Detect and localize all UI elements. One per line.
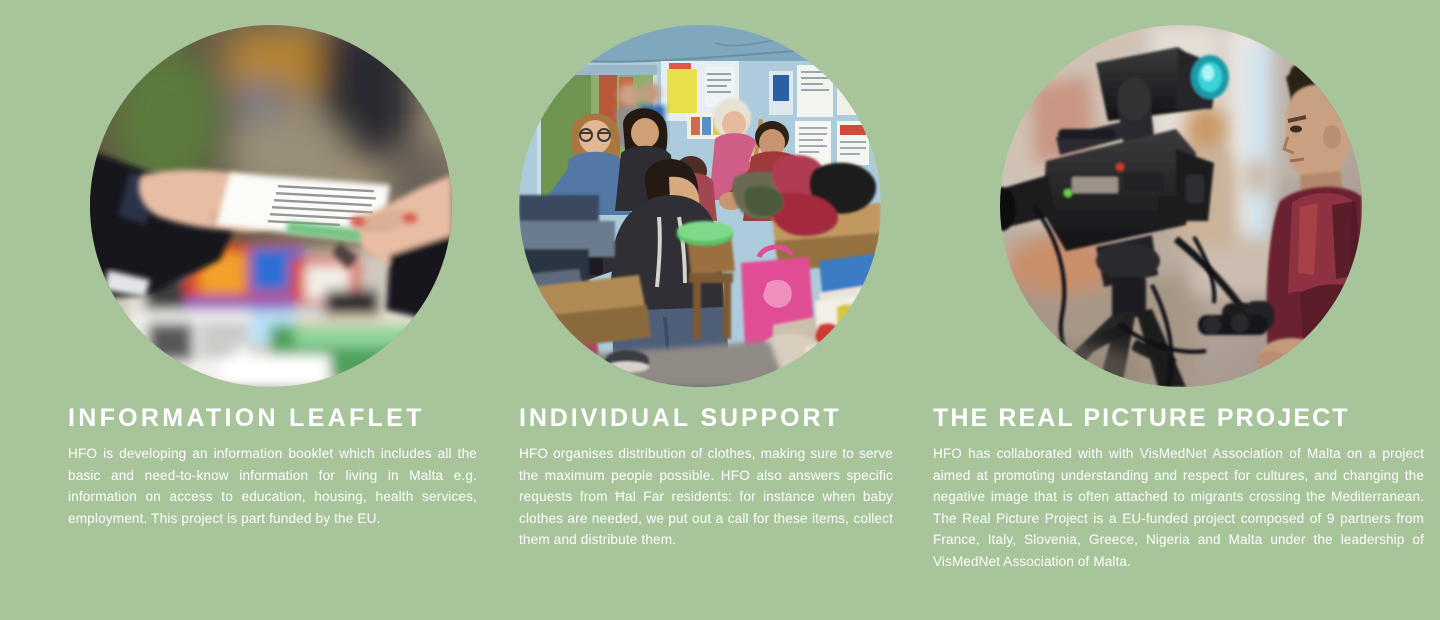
real-picture-project-photo (1000, 25, 1362, 387)
individual-support-photo (519, 25, 881, 387)
individual-support-photo-graphic (519, 25, 881, 387)
information-leaflet-photo-graphic (90, 25, 452, 387)
column-information-leaflet: INFORMATION LEAFLET HFO is developing an… (68, 403, 477, 529)
column-individual-support: INDIVIDUAL SUPPORT HFO organises distrib… (519, 403, 893, 551)
real-picture-project-photo-graphic (1000, 25, 1362, 387)
column-body-real-picture-project: HFO has collaborated with with VisMedNet… (933, 443, 1424, 572)
column-body-information-leaflet: HFO is developing an information booklet… (68, 443, 477, 529)
column-body-individual-support: HFO organises distribution of clothes, m… (519, 443, 893, 551)
text-columns: INFORMATION LEAFLET HFO is developing an… (0, 403, 1440, 620)
column-heading-information-leaflet: INFORMATION LEAFLET (68, 403, 477, 433)
column-heading-real-picture-project: THE REAL PICTURE PROJECT (933, 403, 1424, 433)
photo-row (0, 25, 1440, 387)
information-leaflet-photo (90, 25, 452, 387)
column-heading-individual-support: INDIVIDUAL SUPPORT (519, 403, 893, 433)
page-root: INFORMATION LEAFLET HFO is developing an… (0, 0, 1440, 620)
column-real-picture-project: THE REAL PICTURE PROJECT HFO has collabo… (933, 403, 1424, 572)
